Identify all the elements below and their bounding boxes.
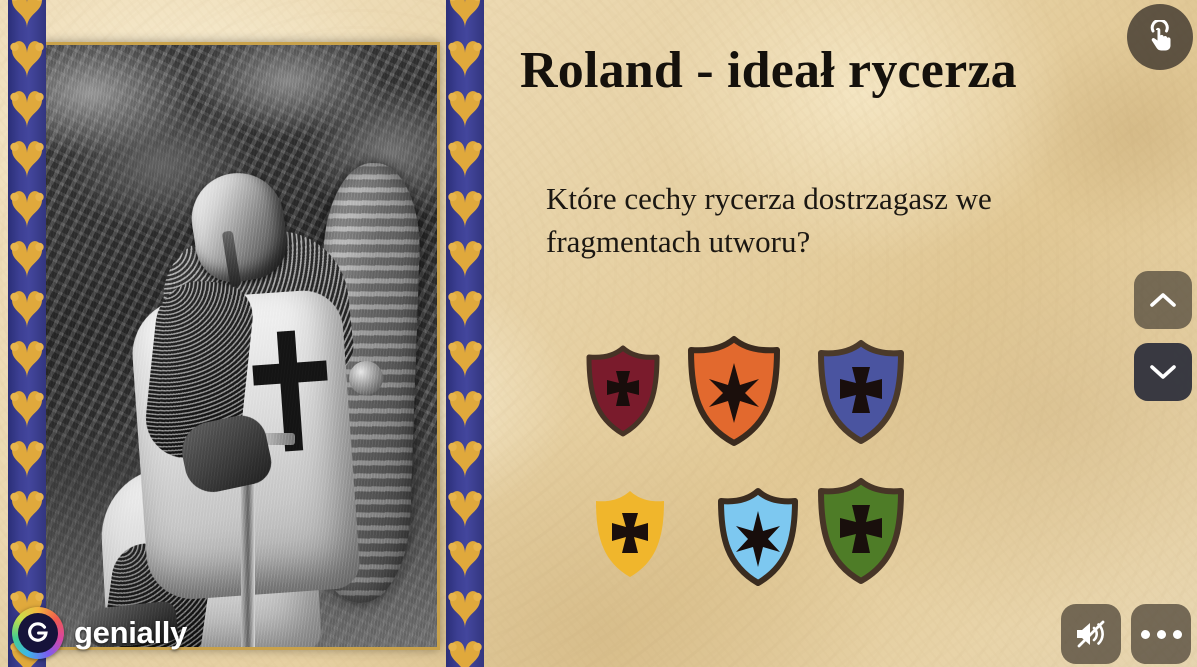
photo-grain-overlay — [43, 45, 437, 647]
more-options-button[interactable] — [1131, 604, 1191, 664]
shield-row-2 — [532, 483, 952, 583]
content-panel: Roland - ideał rycerza Które cechy rycer… — [484, 0, 1197, 667]
knight-photo-frame — [40, 42, 440, 650]
tap-hand-icon — [1144, 20, 1176, 54]
genially-wordmark: genially — [74, 615, 187, 651]
nav-next-button[interactable] — [1134, 343, 1192, 401]
knight-photo — [43, 45, 437, 647]
genially-logo-icon — [12, 607, 64, 659]
speaker-muted-icon — [1074, 619, 1108, 649]
shield-button-5[interactable] — [717, 487, 799, 587]
shield-button-3[interactable] — [817, 339, 905, 445]
sound-toggle-button[interactable] — [1061, 604, 1121, 664]
shield-button-6[interactable] — [817, 477, 905, 585]
shield-button-2[interactable] — [687, 335, 781, 447]
ornamental-border-left — [8, 0, 46, 667]
chevron-up-icon — [1150, 292, 1176, 308]
question-text: Które cechy rycerza dostrzagasz we fragm… — [546, 178, 1066, 264]
nav-previous-button[interactable] — [1134, 271, 1192, 329]
slide-canvas: Roland - ideał rycerza Które cechy rycer… — [0, 0, 1197, 667]
ornamental-border-middle — [446, 0, 484, 667]
ellipsis-icon — [1141, 630, 1182, 639]
shield-row-1 — [532, 345, 952, 445]
chevron-down-icon — [1150, 364, 1176, 380]
shield-button-1[interactable] — [586, 345, 660, 437]
page-title: Roland - ideał rycerza — [520, 44, 1017, 99]
genially-logo[interactable]: genially — [12, 607, 187, 659]
interactive-hint-button[interactable] — [1127, 4, 1193, 70]
shield-buttons-group — [532, 345, 952, 583]
shield-button-4[interactable] — [594, 489, 666, 579]
image-panel — [0, 0, 484, 667]
